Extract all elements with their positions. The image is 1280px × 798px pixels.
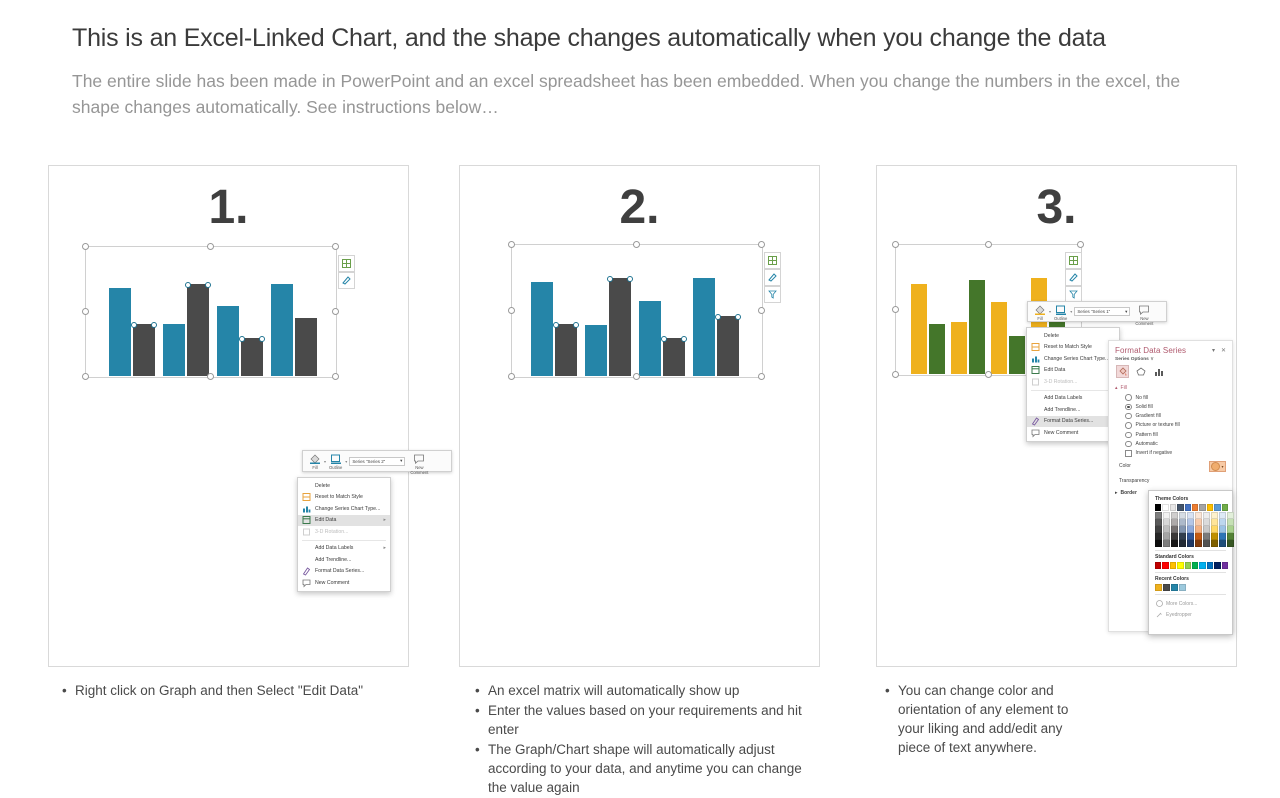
color-swatch: [1211, 462, 1220, 471]
transparency-label: Transparency: [1119, 478, 1226, 484]
menu-item-reset-to-match-style[interactable]: Reset to Match Style: [298, 492, 390, 504]
menu-label: Add Data Labels: [1044, 395, 1082, 401]
menu-item-add-trendline[interactable]: Add Trendline...: [298, 554, 390, 566]
tint-col-2[interactable]: [1171, 512, 1178, 547]
menu-label: New Comment: [1044, 430, 1078, 436]
bar-handle[interactable]: [185, 282, 191, 288]
option-label: Solid fill: [1136, 404, 1153, 410]
radio-icon[interactable]: [1125, 432, 1132, 439]
swatch-standard-6[interactable]: [1199, 562, 1205, 569]
swatch-tint[interactable]: [1211, 519, 1218, 526]
swatch-tint[interactable]: [1187, 512, 1194, 519]
divider: [1155, 594, 1226, 595]
swatch-recent-0[interactable]: [1155, 584, 1162, 591]
chart-1[interactable]: [85, 246, 335, 376]
outline-button[interactable]: Outline: [326, 453, 345, 469]
selection-handle[interactable]: [82, 373, 89, 380]
menu-item-delete[interactable]: Delete: [1027, 330, 1119, 342]
fill-icon[interactable]: [1116, 365, 1129, 378]
option-solid-fill[interactable]: Solid fill: [1109, 402, 1232, 411]
chart-2-bar-s2-c2[interactable]: [609, 278, 631, 376]
option-label: Pattern fill: [1136, 432, 1158, 438]
close-icon[interactable]: ✕: [1221, 347, 1226, 354]
swatch-standard-0[interactable]: [1155, 562, 1161, 569]
bar-handle[interactable]: [259, 336, 265, 342]
menu-separator: [1031, 390, 1115, 391]
bar-handle[interactable]: [205, 282, 211, 288]
format-pane-title: Format Data Series: [1115, 346, 1186, 355]
chevron-right-icon: ▸: [383, 545, 386, 551]
swatch-tint[interactable]: [1195, 519, 1202, 526]
selection-handle[interactable]: [332, 373, 339, 380]
menu-item-format-data-series[interactable]: Format Data Series...: [1027, 416, 1119, 428]
swatch-theme-8[interactable]: [1214, 504, 1220, 511]
checkbox-icon[interactable]: [1125, 450, 1132, 457]
tint-col-6[interactable]: [1203, 512, 1210, 547]
menu-label: Add Data Labels: [315, 545, 353, 551]
fill-icon: [1034, 305, 1046, 316]
recent-colors-row[interactable]: [1155, 584, 1228, 591]
series-selector[interactable]: Series "Series 2" ▾: [349, 457, 405, 466]
expand-caret-icon[interactable]: ▸: [1115, 490, 1118, 496]
tint-col-7[interactable]: [1211, 512, 1218, 547]
color-picker-button[interactable]: ▾: [1209, 461, 1226, 472]
swatch-tint[interactable]: [1227, 533, 1234, 540]
mini-toolbar-1[interactable]: Fill ▾ Outline ▾ Series "Series 2" ▾ New…: [302, 450, 452, 472]
radio-icon[interactable]: [1125, 404, 1132, 411]
swatch-tint[interactable]: [1171, 512, 1178, 519]
list-item: You can change color and orientation of …: [898, 681, 1097, 757]
menu-item-change-series-chart-type[interactable]: Change Series Chart Type...: [1027, 353, 1119, 365]
bar-handle[interactable]: [553, 322, 559, 328]
menu-item-3d-rotation: 3-D Rotation...: [298, 526, 390, 538]
format-pane-header-buttons[interactable]: ▾ ✕: [1212, 347, 1226, 354]
menu-item-add-trendline[interactable]: Add Trendline...: [1027, 404, 1119, 416]
menu-label: Delete: [315, 483, 330, 489]
chevron-down-icon: ▾: [400, 458, 402, 464]
eyedropper-button[interactable]: Eyedropper: [1153, 609, 1228, 620]
option-label: Invert if negative: [1136, 450, 1173, 456]
swatch-recent-3[interactable]: [1179, 584, 1186, 591]
chart-filters-icon[interactable]: [764, 286, 781, 303]
swatch-tint[interactable]: [1211, 526, 1218, 533]
selection-handle[interactable]: [508, 241, 515, 248]
bar-handle[interactable]: [607, 276, 613, 282]
series-options-text: Series Options: [1115, 357, 1149, 362]
chart-elements-icon[interactable]: [764, 252, 781, 269]
selection-handle[interactable]: [758, 373, 765, 380]
format-icon: [302, 567, 311, 576]
menu-separator: [302, 540, 386, 541]
format-icon: [1031, 417, 1040, 426]
swatch-tint[interactable]: [1163, 526, 1170, 533]
bar-handle[interactable]: [661, 336, 667, 342]
swatch-tint[interactable]: [1163, 533, 1170, 540]
swatch-standard-3[interactable]: [1177, 562, 1183, 569]
outline-icon: [330, 454, 342, 465]
option-invert-if-negative[interactable]: Invert if negative: [1109, 449, 1232, 458]
swatch-standard-2[interactable]: [1170, 562, 1176, 569]
edit-data-icon: [302, 516, 311, 525]
chart-3-bar-s1-c3[interactable]: [991, 302, 1007, 374]
chart-3-bar-s1-c1[interactable]: [911, 284, 927, 374]
menu-item-edit-data[interactable]: Edit Data ▸: [1027, 365, 1119, 377]
effects-icon[interactable]: [1134, 365, 1147, 378]
swatch-tint[interactable]: [1211, 540, 1218, 547]
bar-handle[interactable]: [573, 322, 579, 328]
option-automatic[interactable]: Automatic: [1109, 439, 1232, 448]
menu-label: Add Trendline...: [315, 557, 351, 563]
swatch-theme-6[interactable]: [1199, 504, 1205, 511]
standard-colors-row[interactable]: [1155, 562, 1228, 569]
swatch-recent-1[interactable]: [1163, 584, 1170, 591]
slide: This is an Excel-Linked Chart, and the s…: [0, 0, 1280, 720]
tint-col-3[interactable]: [1179, 512, 1186, 547]
swatch-standard-1[interactable]: [1162, 562, 1168, 569]
swatch-theme-3[interactable]: [1177, 504, 1183, 511]
chart-styles-icon[interactable]: [1065, 269, 1082, 286]
tint-col-4[interactable]: [1187, 512, 1194, 547]
list-item: The Graph/Chart shape will automatically…: [488, 740, 812, 797]
outline-icon: [1055, 305, 1067, 316]
chart-2-bar-s2-c3[interactable]: [663, 338, 685, 376]
chart-elements-icon[interactable]: [1065, 252, 1082, 269]
swatch-tint[interactable]: [1219, 519, 1226, 526]
selection-handle[interactable]: [82, 243, 89, 250]
new-comment-button[interactable]: NewComment: [407, 453, 431, 469]
selection-handle[interactable]: [758, 241, 765, 248]
divider: [1155, 572, 1226, 573]
chevron-down-icon[interactable]: ▾: [1221, 464, 1223, 469]
close-icon[interactable]: ✕: [1211, 554, 1218, 562]
tint-col-5[interactable]: [1195, 512, 1202, 547]
swatch-theme-4[interactable]: [1185, 504, 1191, 511]
selection-handle[interactable]: [207, 243, 214, 250]
swatch-tint[interactable]: [1203, 519, 1210, 526]
option-no-fill[interactable]: No fill: [1109, 393, 1232, 402]
swatch-standard-9[interactable]: [1222, 562, 1228, 569]
chart-1-bar-s1-c4[interactable]: [271, 284, 293, 376]
menu-label: Change Series Chart Type...: [1044, 356, 1109, 362]
menu-label: Reset to Match Style: [1044, 344, 1092, 350]
selection-handle[interactable]: [985, 241, 992, 248]
chart-3-bar-s1-c2[interactable]: [951, 322, 967, 374]
option-label: Automatic: [1136, 441, 1158, 447]
swatch-tint[interactable]: [1195, 512, 1202, 519]
chart-1-bar-s1-c1[interactable]: [109, 288, 131, 376]
page-title: This is an Excel-Linked Chart, and the s…: [72, 24, 1212, 53]
chart-styles-icon[interactable]: [764, 269, 781, 286]
swatch-tint[interactable]: [1187, 519, 1194, 526]
outline-label: Outline: [1054, 317, 1067, 322]
swatch-standard-7[interactable]: [1207, 562, 1213, 569]
menu-item-add-data-labels[interactable]: Add Data Labels ▸: [298, 543, 390, 555]
selection-handle[interactable]: [332, 243, 339, 250]
selection-handle[interactable]: [892, 241, 899, 248]
chart-1-bar-s2-c3[interactable]: [241, 338, 263, 376]
swatch-tint[interactable]: [1219, 526, 1226, 533]
chevron-down-icon[interactable]: ∨: [1150, 357, 1154, 362]
chart-2-bar-s1-c2[interactable]: [585, 325, 607, 376]
menu-item-reset-to-match-style[interactable]: Reset to Match Style: [1027, 342, 1119, 354]
bullet-list: You can change color and orientation of …: [882, 681, 1097, 757]
swatch-tint[interactable]: [1171, 526, 1178, 533]
swatch-tint[interactable]: [1163, 512, 1170, 519]
selection-handle[interactable]: [892, 306, 899, 313]
swatch-theme-0[interactable]: [1155, 504, 1161, 511]
menu-label: 3-D Rotation...: [315, 529, 348, 535]
comment-icon: [1031, 428, 1040, 437]
swatch-tint[interactable]: [1227, 512, 1234, 519]
fill-button[interactable]: Fill: [306, 453, 324, 469]
swatch-theme-1[interactable]: [1162, 504, 1168, 511]
option-label: Gradient fill: [1136, 413, 1161, 419]
swatch-tint[interactable]: [1227, 519, 1234, 526]
edit-data-icon: [1031, 366, 1040, 375]
chart-3-bar-s2-c2[interactable]: [969, 280, 985, 374]
new-comment-label: NewComment: [410, 466, 428, 475]
transparency-row[interactable]: Transparency: [1109, 475, 1232, 487]
series-selector-value: Series "Series 2": [352, 459, 385, 464]
swatch-tint[interactable]: [1179, 519, 1186, 526]
divider: [1155, 550, 1226, 551]
menu-label: Format Data Series...: [315, 568, 364, 574]
list-item: Enter the values based on your requireme…: [488, 701, 812, 739]
menu-item-format-data-series[interactable]: Format Data Series...: [298, 566, 390, 578]
context-menu-1[interactable]: Delete Reset to Match Style Change Serie…: [297, 477, 391, 592]
swatch-tint[interactable]: [1203, 540, 1210, 547]
color-row[interactable]: Color ▾: [1109, 458, 1232, 475]
radio-icon[interactable]: [1125, 413, 1132, 420]
bullet-list: An excel matrix will automatically show …: [472, 681, 812, 797]
chart-type-icon: [302, 504, 311, 513]
more-colors-button[interactable]: More Colors...: [1153, 598, 1228, 609]
pane-options-dropdown-icon[interactable]: ▾: [1212, 347, 1215, 354]
swatch-tint[interactable]: [1155, 512, 1162, 519]
chart-2-bar-s2-c1[interactable]: [555, 324, 577, 376]
fill-section-label: Fill: [1121, 385, 1127, 391]
swatch-theme-9[interactable]: [1222, 504, 1228, 511]
selection-handle[interactable]: [508, 373, 515, 380]
swatch-tint[interactable]: [1155, 526, 1162, 533]
mini-toolbar-3[interactable]: Fill ▾ Outline ▾ Series "Series 1" ▾ New…: [1027, 301, 1167, 322]
series-icon[interactable]: [1152, 365, 1165, 378]
fill-button[interactable]: Fill: [1031, 304, 1049, 319]
series-options-label[interactable]: Series Options ∨: [1109, 357, 1232, 364]
rotation-icon: [302, 527, 311, 536]
swatch-tint[interactable]: [1227, 540, 1234, 547]
chart-2-bar-s2-c4[interactable]: [717, 316, 739, 376]
swatch-tint[interactable]: [1195, 533, 1202, 540]
theme-tints-grid[interactable]: [1155, 512, 1228, 547]
bar-handle[interactable]: [131, 322, 137, 328]
border-section-label: Border: [1121, 490, 1137, 496]
swatch-tint[interactable]: [1211, 512, 1218, 519]
bar-handle[interactable]: [239, 336, 245, 342]
outline-caret-icon[interactable]: ▾: [1070, 309, 1072, 314]
swatch-tint[interactable]: [1203, 533, 1210, 540]
selection-handle[interactable]: [892, 371, 899, 378]
selection-handle[interactable]: [758, 307, 765, 314]
swatch-tint[interactable]: [1171, 540, 1178, 547]
swatch-tint[interactable]: [1179, 526, 1186, 533]
chart-1-bar-s1-c2[interactable]: [163, 324, 185, 376]
chart-1-bar-s2-c1[interactable]: [133, 324, 155, 376]
option-label: No fill: [1136, 395, 1149, 401]
swatch-tint[interactable]: [1155, 519, 1162, 526]
swatch-tint[interactable]: [1179, 540, 1186, 547]
bar-handle[interactable]: [151, 322, 157, 328]
selection-handle[interactable]: [207, 373, 214, 380]
chart-styles-icon[interactable]: [338, 272, 355, 289]
menu-item-3d-rotation: 3-D Rotation...: [1027, 376, 1119, 388]
color-label: Color: [1119, 463, 1209, 469]
radio-icon[interactable]: [1125, 441, 1132, 448]
swatch-tint[interactable]: [1187, 540, 1194, 547]
menu-item-add-data-labels[interactable]: Add Data Labels ▸: [1027, 393, 1119, 405]
context-menu-3[interactable]: Delete Reset to Match Style Change Serie…: [1026, 327, 1120, 442]
comment-icon: [1138, 305, 1150, 316]
swatch-tint[interactable]: [1163, 540, 1170, 547]
option-gradient-fill[interactable]: Gradient fill: [1109, 412, 1232, 421]
new-comment-label: NewComment: [1135, 317, 1153, 326]
panel-1-bullets: Right click on Graph and then Select "Ed…: [59, 681, 399, 701]
selection-handle[interactable]: [1077, 241, 1084, 248]
swatch-tint[interactable]: [1227, 526, 1234, 533]
theme-colors-row[interactable]: [1155, 504, 1228, 511]
menu-label: Format Data Series...: [1044, 418, 1093, 424]
swatch-tint[interactable]: [1219, 512, 1226, 519]
option-pattern-fill[interactable]: Pattern fill: [1109, 430, 1232, 439]
swatch-tint[interactable]: [1179, 533, 1186, 540]
swatch-standard-5[interactable]: [1192, 562, 1198, 569]
menu-item-delete[interactable]: Delete: [298, 480, 390, 492]
chart-2-bar-s1-c4[interactable]: [693, 278, 715, 376]
chart-3-bar-s2-c3[interactable]: [1009, 336, 1025, 374]
swatch-theme-2[interactable]: [1170, 504, 1176, 511]
swatch-tint[interactable]: [1203, 512, 1210, 519]
tint-col-8[interactable]: [1219, 512, 1226, 547]
menu-item-new-comment[interactable]: New Comment: [298, 577, 390, 589]
chart-1-bar-s1-c3[interactable]: [217, 306, 239, 376]
format-pane-tabs[interactable]: [1109, 364, 1232, 382]
bar-handle[interactable]: [627, 276, 633, 282]
selection-handle[interactable]: [633, 373, 640, 380]
menu-label: Add Trendline...: [1044, 407, 1080, 413]
selection-handle[interactable]: [332, 308, 339, 315]
chart-type-icon: [1031, 354, 1040, 363]
chart-1-bar-s2-c4[interactable]: [295, 318, 317, 376]
bullet-list: Right click on Graph and then Select "Ed…: [59, 681, 399, 700]
chart-2[interactable]: [511, 244, 761, 376]
recent-colors-label: Recent Colors: [1155, 576, 1228, 582]
swatch-tint[interactable]: [1219, 533, 1226, 540]
swatch-tint[interactable]: [1163, 519, 1170, 526]
selection-handle[interactable]: [508, 307, 515, 314]
option-picture-or-texture-fill[interactable]: Picture or texture fill: [1109, 421, 1232, 430]
menu-label: New Comment: [315, 580, 349, 586]
menu-label: Reset to Match Style: [315, 494, 363, 500]
panel-number-3: 3.: [877, 180, 1236, 235]
list-item: An excel matrix will automatically show …: [488, 681, 812, 700]
swatch-tint[interactable]: [1219, 540, 1226, 547]
selection-handle[interactable]: [633, 241, 640, 248]
menu-label: Edit Data: [1044, 367, 1065, 373]
panel-2-bullets: An excel matrix will automatically show …: [472, 681, 812, 798]
reset-icon: [302, 493, 311, 502]
chart-2-bar-s1-c3[interactable]: [639, 301, 661, 376]
swatch-tint[interactable]: [1171, 533, 1178, 540]
page-subtitle: The entire slide has been made in PowerP…: [72, 68, 1197, 120]
bar-handle[interactable]: [735, 314, 741, 320]
chart-3-bar-s2-c1[interactable]: [929, 324, 945, 374]
series-selector[interactable]: Series "Series 1" ▾: [1074, 307, 1130, 316]
eyedropper-label: Eyedropper: [1166, 612, 1192, 618]
chart-elements-icon[interactable]: [338, 255, 355, 272]
swatch-theme-5[interactable]: [1192, 504, 1198, 511]
outline-button[interactable]: Outline: [1051, 304, 1070, 319]
outline-caret-icon[interactable]: ▾: [345, 459, 347, 464]
menu-item-change-series-chart-type[interactable]: Change Series Chart Type...: [298, 503, 390, 515]
swatch-tint[interactable]: [1211, 533, 1218, 540]
bar-handle[interactable]: [715, 314, 721, 320]
swatch-theme-7[interactable]: [1207, 504, 1213, 511]
rotation-icon: [1031, 377, 1040, 386]
chart-2-bar-s1-c1[interactable]: [531, 282, 553, 376]
new-comment-button[interactable]: NewComment: [1132, 304, 1156, 319]
tint-col-9[interactable]: [1227, 512, 1234, 547]
swatch-tint[interactable]: [1187, 526, 1194, 533]
expand-caret-icon[interactable]: ▴: [1115, 385, 1118, 391]
tint-col-1[interactable]: [1163, 512, 1170, 547]
swatch-tint[interactable]: [1195, 526, 1202, 533]
swatch-tint[interactable]: [1187, 533, 1194, 540]
chart-1-bar-s2-c2[interactable]: [187, 284, 209, 376]
menu-item-new-comment[interactable]: New Comment: [1027, 427, 1119, 439]
swatch-tint[interactable]: [1203, 526, 1210, 533]
swatch-tint[interactable]: [1171, 519, 1178, 526]
menu-label: Delete: [1044, 333, 1059, 339]
menu-label: Change Series Chart Type...: [315, 506, 380, 512]
tint-col-0[interactable]: [1155, 512, 1162, 547]
selection-handle[interactable]: [985, 371, 992, 378]
fill-label: Fill: [1037, 317, 1042, 322]
swatch-standard-4[interactable]: [1185, 562, 1191, 569]
swatch-tint[interactable]: [1179, 512, 1186, 519]
swatch-tint[interactable]: [1155, 540, 1162, 547]
panel-step-2: 2.: [459, 165, 820, 667]
radio-icon[interactable]: [1125, 422, 1132, 429]
radio-icon[interactable]: [1125, 394, 1132, 401]
selection-handle[interactable]: [82, 308, 89, 315]
color-picker-dropdown[interactable]: Theme Colors Standard Colors: [1148, 490, 1233, 635]
fill-label: Fill: [312, 466, 317, 471]
swatch-tint[interactable]: [1195, 540, 1202, 547]
panel-step-1: 1.: [48, 165, 409, 667]
more-colors-label: More Colors...: [1166, 601, 1197, 607]
swatch-tint[interactable]: [1155, 533, 1162, 540]
reset-icon: [1031, 343, 1040, 352]
fill-section-header[interactable]: ▴ Fill: [1109, 382, 1232, 393]
palette-icon: [1156, 600, 1163, 607]
bar-handle[interactable]: [681, 336, 687, 342]
swatch-standard-8[interactable]: [1214, 562, 1220, 569]
outline-label: Outline: [329, 466, 342, 471]
chevron-right-icon: ▸: [383, 517, 386, 523]
theme-colors-label: Theme Colors: [1155, 496, 1228, 502]
menu-item-edit-data[interactable]: Edit Data ▸: [298, 515, 390, 527]
swatch-recent-2[interactable]: [1171, 584, 1178, 591]
